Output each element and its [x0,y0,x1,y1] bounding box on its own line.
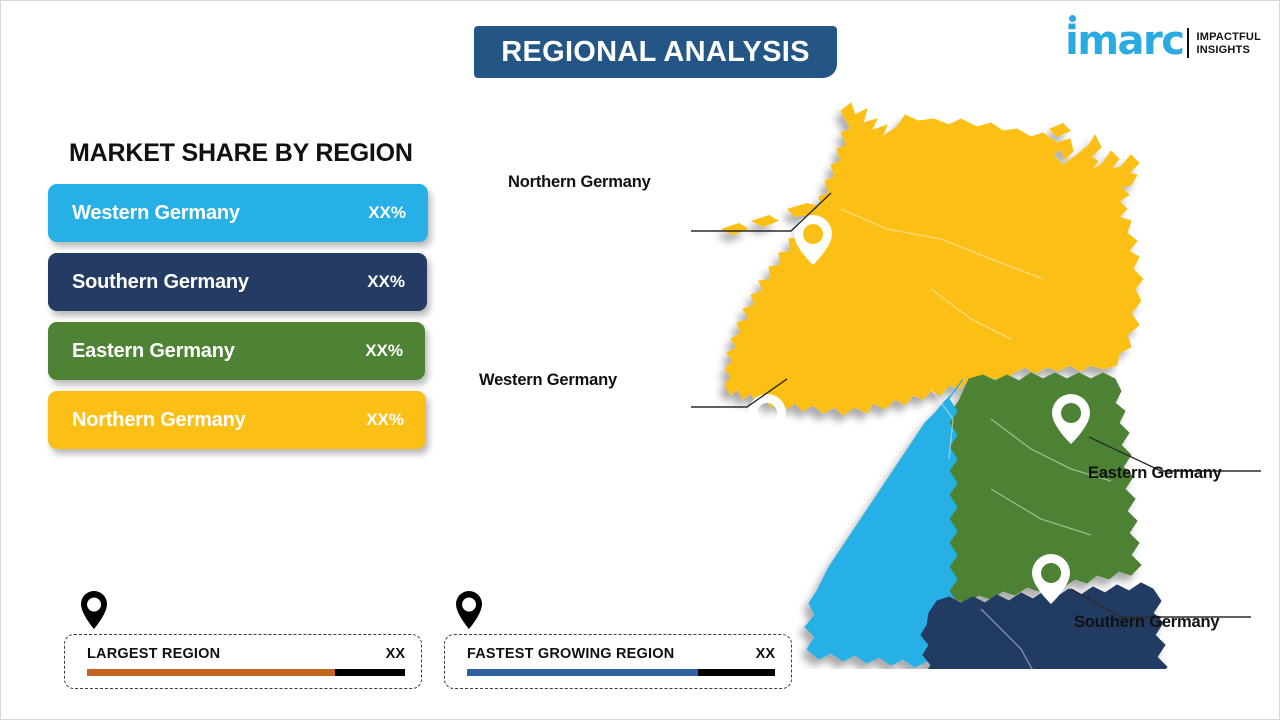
map-pin-icon [454,590,484,630]
germany-region-map: Northern Germany Western Germany Eastern… [691,89,1280,669]
page-title: REGIONAL ANALYSIS [501,36,810,69]
map-label-southern: Southern Germany [1074,613,1219,632]
kpi-progress-fill [467,669,698,676]
germany-map-svg [691,89,1280,669]
logo-divider [1187,28,1189,58]
logo-wordmark: imarc [1065,21,1183,61]
market-share-heading: MARKET SHARE BY REGION [69,139,413,168]
kpi-label: LARGEST REGION [87,646,220,662]
logo-wordmark-text: imarc [1065,18,1183,64]
market-share-row-value: XX% [367,272,405,292]
kpi-label: FASTEST GROWING REGION [467,646,674,662]
market-share-row[interactable]: Northern GermanyXX% [48,391,426,449]
kpi-progress-track [87,669,405,676]
page-title-box: REGIONAL ANALYSIS [474,26,837,78]
map-region-northern[interactable] [725,103,1143,415]
market-share-row-label: Southern Germany [72,271,249,294]
kpi-head: LARGEST REGIONXX [87,646,405,662]
kpi-progress-fill [87,669,335,676]
market-share-row-value: XX% [365,341,403,361]
logo-tagline-line1: IMPACTFUL [1196,31,1261,43]
market-share-row[interactable]: Western GermanyXX% [48,184,428,242]
kpi-value: XX [386,646,405,662]
kpi-progress-track [467,669,775,676]
market-share-row-label: Western Germany [72,202,240,225]
kpi-card[interactable]: LARGEST REGIONXX [64,634,422,689]
map-pin-icon [79,590,109,630]
map-label-western: Western Germany [479,371,617,390]
map-label-northern: Northern Germany [508,173,651,192]
logo-tagline: IMPACTFUL INSIGHTS [1196,31,1261,57]
market-share-list: Western GermanyXX%Southern GermanyXX%Eas… [48,184,433,460]
slide-root: REGIONAL ANALYSIS imarc IMPACTFUL INSIGH… [0,0,1280,720]
market-share-row[interactable]: Southern GermanyXX% [48,253,427,311]
market-share-row-label: Northern Germany [72,409,246,432]
map-label-eastern: Eastern Germany [1088,464,1222,483]
imarc-logo: imarc IMPACTFUL INSIGHTS [1065,15,1261,61]
market-share-row[interactable]: Eastern GermanyXX% [48,322,425,380]
market-share-row-label: Eastern Germany [72,340,235,363]
market-share-row-value: XX% [368,203,406,223]
logo-tagline-line2: INSIGHTS [1196,44,1250,56]
market-share-row-value: XX% [366,410,404,430]
